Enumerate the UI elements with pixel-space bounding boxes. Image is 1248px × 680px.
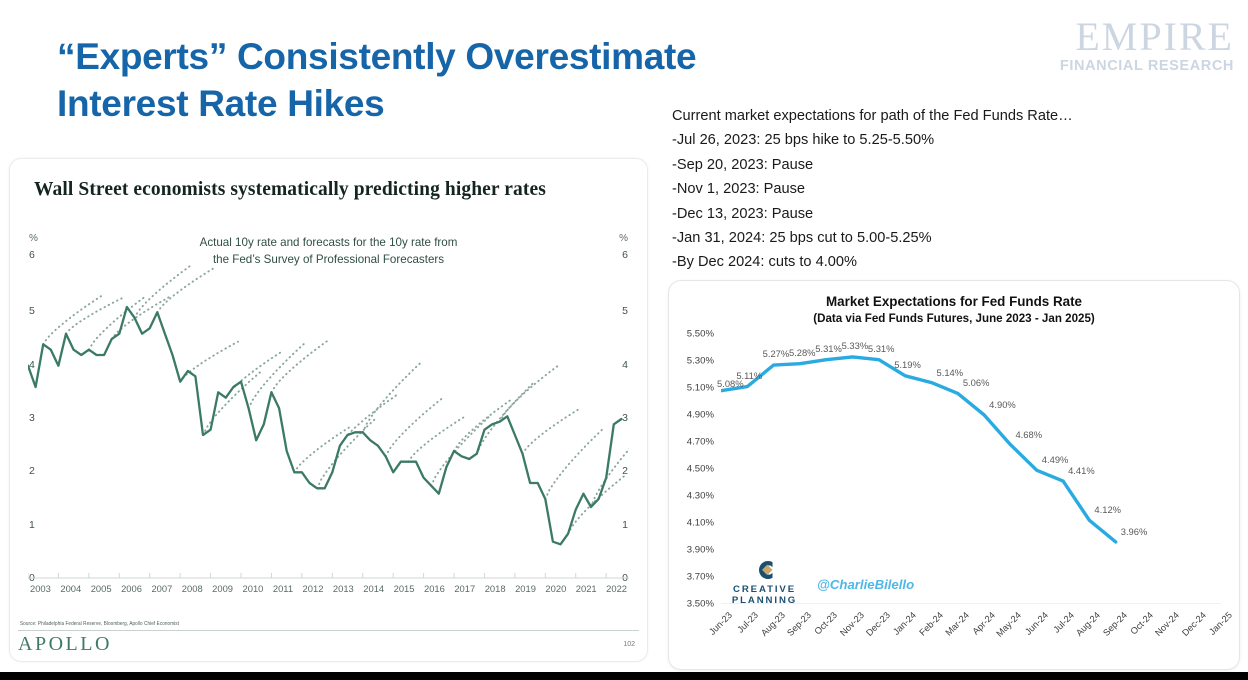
- apollo-x-tick-label: 2005: [91, 583, 112, 594]
- page-title-line-1: “Experts” Consistently Overestimate: [57, 33, 957, 80]
- apollo-forecast-paths: [43, 264, 629, 533]
- apollo-x-tick-label: 2019: [515, 583, 536, 594]
- apollo-forecast-path: [386, 397, 444, 456]
- apollo-forecast-path: [591, 429, 629, 507]
- fed-funds-y-tick-label: 5.50%: [687, 329, 714, 340]
- apollo-chart-title: Wall Street economists systematically pr…: [34, 179, 546, 201]
- author-handle: @CharlieBilello: [817, 577, 914, 592]
- apollo-actual-rate-line: [28, 307, 621, 544]
- apollo-x-tick-label: 2021: [576, 583, 597, 594]
- fed-funds-data-label: 5.33%: [842, 340, 869, 351]
- list-item: -Sep 20, 2023: Pause: [672, 153, 1232, 177]
- creative-planning-line-2: PLANNING: [722, 595, 807, 606]
- fed-funds-chart-subtitle: (Data via Fed Funds Futures, June 2023 -…: [669, 312, 1239, 325]
- creative-planning-logo: CREATIVE PLANNING: [722, 559, 807, 606]
- fed-funds-data-label: 3.96%: [1121, 526, 1148, 537]
- apollo-x-tick-label: 2006: [121, 583, 142, 594]
- apollo-forecast-path: [500, 366, 558, 422]
- fed-funds-data-label: 4.41%: [1068, 465, 1095, 476]
- list-item: -Jul 26, 2023: 25 bps hike to 5.25-5.50%: [672, 128, 1232, 152]
- fed-funds-chart-card: Market Expectations for Fed Funds Rate (…: [668, 280, 1240, 670]
- apollo-forecast-path: [135, 264, 193, 317]
- apollo-forecast-path: [545, 429, 603, 499]
- creative-planning-line-1: CREATIVE: [722, 584, 807, 595]
- fed-funds-data-label: 4.49%: [1042, 454, 1069, 465]
- apollo-forecast-path: [454, 399, 512, 451]
- fed-funds-data-label: 5.28%: [789, 347, 816, 358]
- apollo-x-tick-label: 2016: [424, 583, 445, 594]
- apollo-logo: APOLLO: [18, 633, 112, 656]
- apollo-x-tick-label: 2010: [243, 583, 264, 594]
- apollo-line-chart: [28, 259, 629, 579]
- fed-funds-data-label: 5.19%: [894, 359, 921, 370]
- apollo-forecast-path: [180, 342, 238, 382]
- apollo-divider: [18, 630, 639, 631]
- apollo-x-tick-label: 2009: [212, 583, 233, 594]
- fed-funds-rate-line: [721, 357, 1116, 542]
- apollo-x-tick-label: 2015: [394, 583, 415, 594]
- fed-funds-y-tick-label: 3.50%: [687, 599, 714, 610]
- apollo-x-tick-label: 2003: [30, 583, 51, 594]
- apollo-x-tick-label: 2004: [60, 583, 81, 594]
- apollo-x-tick-label: 2013: [333, 583, 354, 594]
- fed-funds-data-label: 5.06%: [963, 377, 990, 388]
- list-intro: Current market expectations for path of …: [672, 104, 1232, 128]
- fed-funds-data-label: 5.11%: [736, 370, 762, 381]
- apollo-x-tick-label: 2022: [606, 583, 627, 594]
- fed-funds-y-tick-label: 4.50%: [687, 464, 714, 475]
- apollo-forecast-path: [568, 475, 626, 534]
- apollo-forecast-path: [317, 419, 375, 488]
- fed-funds-data-label: 5.14%: [937, 367, 964, 378]
- apollo-x-tick-label: 2011: [273, 583, 293, 594]
- apollo-x-axis-labels: 2003200420052006200720082009201020112012…: [28, 583, 629, 594]
- fed-expectations-list: Current market expectations for path of …: [672, 104, 1232, 275]
- apollo-x-tick-label: 2020: [545, 583, 566, 594]
- list-item: -Nov 1, 2023: Pause: [672, 177, 1232, 201]
- empire-logo: EMPIRE FINANCIAL RESEARCH: [1060, 18, 1234, 74]
- fed-funds-y-tick-label: 4.70%: [687, 437, 714, 448]
- fed-funds-data-label: 4.68%: [1015, 429, 1042, 440]
- apollo-source-note: Source: Philadelphia Federal Reserve, Bl…: [20, 620, 179, 626]
- fed-funds-data-label: 5.27%: [763, 348, 790, 359]
- apollo-forecast-path: [157, 267, 215, 312]
- fed-funds-y-tick-label: 4.10%: [687, 518, 714, 529]
- apollo-forecast-path: [249, 342, 307, 409]
- apollo-forecast-path: [43, 296, 101, 344]
- apollo-plot-area: [28, 259, 629, 579]
- list-item: -Dec 13, 2023: Pause: [672, 202, 1232, 226]
- list-item: -By Dec 2024: cuts to 4.00%: [672, 250, 1232, 274]
- apollo-x-tick-label: 2007: [151, 583, 172, 594]
- apollo-chart-subtitle-line-1: Actual 10y rate and forecasts for the 10…: [10, 234, 647, 251]
- apollo-x-tick-label: 2014: [363, 583, 384, 594]
- fed-funds-y-tick-label: 5.30%: [687, 356, 714, 367]
- fed-funds-chart-title: Market Expectations for Fed Funds Rate: [669, 294, 1239, 309]
- fed-funds-y-tick-label: 5.10%: [687, 383, 714, 394]
- apollo-chart-card: Wall Street economists systematically pr…: [9, 158, 648, 662]
- apollo-forecast-path: [431, 417, 489, 486]
- fed-funds-data-label: 5.31%: [868, 343, 895, 354]
- list-item: -Jan 31, 2024: 25 bps cut to 5.00-5.25%: [672, 226, 1232, 250]
- slide: “Experts” Consistently Overestimate Inte…: [0, 0, 1248, 672]
- fed-funds-y-tick-label: 4.30%: [687, 491, 714, 502]
- apollo-x-tick-label: 2008: [182, 583, 203, 594]
- fed-funds-y-tick-label: 3.70%: [687, 572, 714, 583]
- fed-funds-y-tick-label: 4.90%: [687, 410, 714, 421]
- fed-funds-data-label: 4.90%: [989, 399, 1016, 410]
- empire-logo-tagline: FINANCIAL RESEARCH: [1060, 58, 1234, 74]
- apollo-x-tick-label: 2017: [454, 583, 475, 594]
- apollo-page-number: 102: [623, 641, 635, 648]
- fed-funds-y-tick-label: 3.90%: [687, 545, 714, 556]
- fed-funds-data-label: 4.12%: [1094, 504, 1121, 515]
- empire-logo-wordmark: EMPIRE: [1060, 18, 1234, 56]
- apollo-forecast-path: [294, 426, 352, 473]
- apollo-x-tick-label: 2012: [303, 583, 324, 594]
- apollo-forecast-path: [226, 350, 284, 397]
- apollo-x-tick-label: 2018: [485, 583, 506, 594]
- creative-planning-mark-icon: [754, 559, 776, 581]
- apollo-forecast-path: [523, 408, 581, 453]
- fed-funds-data-label: 5.31%: [815, 343, 842, 354]
- slide-bottom-bar: [0, 672, 1248, 680]
- apollo-x-tick-marks: [28, 573, 606, 578]
